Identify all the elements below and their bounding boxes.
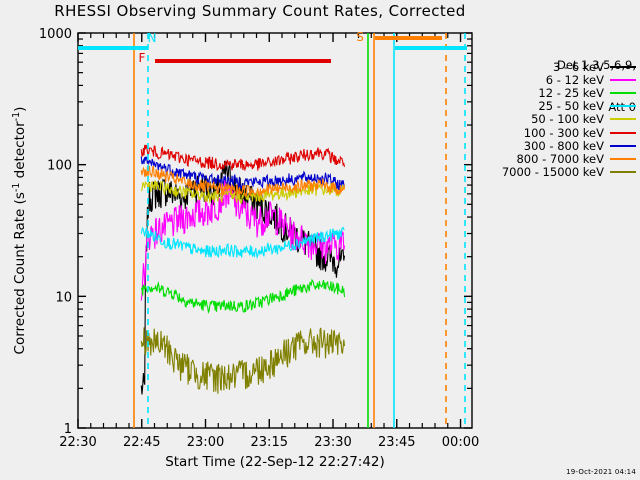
y-tick-label: 1000 xyxy=(39,27,72,42)
legend-item: 50 - 100 keV xyxy=(470,113,636,126)
legend-label: 50 - 100 keV xyxy=(531,112,604,126)
chart-page: RHESSI Observing Summary Count Rates, Co… xyxy=(0,0,640,480)
legend-item: 25 - 50 keV xyxy=(470,100,636,113)
legend-item: 300 - 800 keV xyxy=(470,139,636,152)
series-4 xyxy=(141,228,344,258)
legend-swatch xyxy=(610,105,636,107)
x-tick-label: 23:15 xyxy=(251,435,288,450)
legend: 3 - 6 keV6 - 12 keV12 - 25 keV25 - 50 ke… xyxy=(470,60,636,179)
x-tick-label: 22:30 xyxy=(59,435,96,450)
y-axis-label: Corrected Count Rate (s-1 detector-1) xyxy=(11,107,29,355)
legend-item: 800 - 7000 keV xyxy=(470,152,636,165)
legend-swatch xyxy=(610,171,636,173)
saa-bar-label: S xyxy=(356,30,364,44)
y-tick-label: 10 xyxy=(55,290,72,305)
series-6 xyxy=(141,145,344,171)
legend-swatch xyxy=(610,158,636,160)
legend-swatch xyxy=(610,132,636,134)
legend-label: 6 - 12 keV xyxy=(546,73,604,87)
legend-swatch xyxy=(610,79,636,81)
x-axis-label: Start Time (22-Sep-12 22:27:42) xyxy=(165,454,385,470)
flare-bar-label: F xyxy=(139,51,146,65)
legend-swatch xyxy=(610,92,636,94)
render-timestamp: 19-Oct-2021 04:14 xyxy=(566,468,636,476)
legend-label: 7000 - 15000 keV xyxy=(502,165,604,179)
legend-swatch xyxy=(610,118,636,120)
legend-item: 3 - 6 keV xyxy=(470,60,636,73)
legend-label: 25 - 50 keV xyxy=(538,99,604,113)
legend-label: 100 - 300 keV xyxy=(524,126,604,140)
legend-item: 12 - 25 keV xyxy=(470,86,636,99)
legend-item: 7000 - 15000 keV xyxy=(470,166,636,179)
legend-label: 3 - 6 keV xyxy=(553,60,604,74)
x-tick-label: 00:00 xyxy=(442,435,479,450)
legend-swatch xyxy=(610,66,636,68)
x-tick-label: 23:00 xyxy=(187,435,224,450)
series-3 xyxy=(141,280,344,312)
legend-item: 100 - 300 keV xyxy=(470,126,636,139)
series-9 xyxy=(141,327,344,393)
legend-label: 800 - 7000 keV xyxy=(516,152,604,166)
night-bar-1-label: N xyxy=(148,31,157,45)
y-tick-label: 100 xyxy=(47,159,72,174)
legend-label: 300 - 800 keV xyxy=(524,139,604,153)
legend-label: 12 - 25 keV xyxy=(538,86,604,100)
legend-item: 6 - 12 keV xyxy=(470,73,636,86)
x-tick-label: 23:45 xyxy=(378,435,415,450)
x-tick-label: 23:30 xyxy=(314,435,351,450)
legend-swatch xyxy=(610,145,636,147)
x-tick-label: 22:45 xyxy=(123,435,160,450)
